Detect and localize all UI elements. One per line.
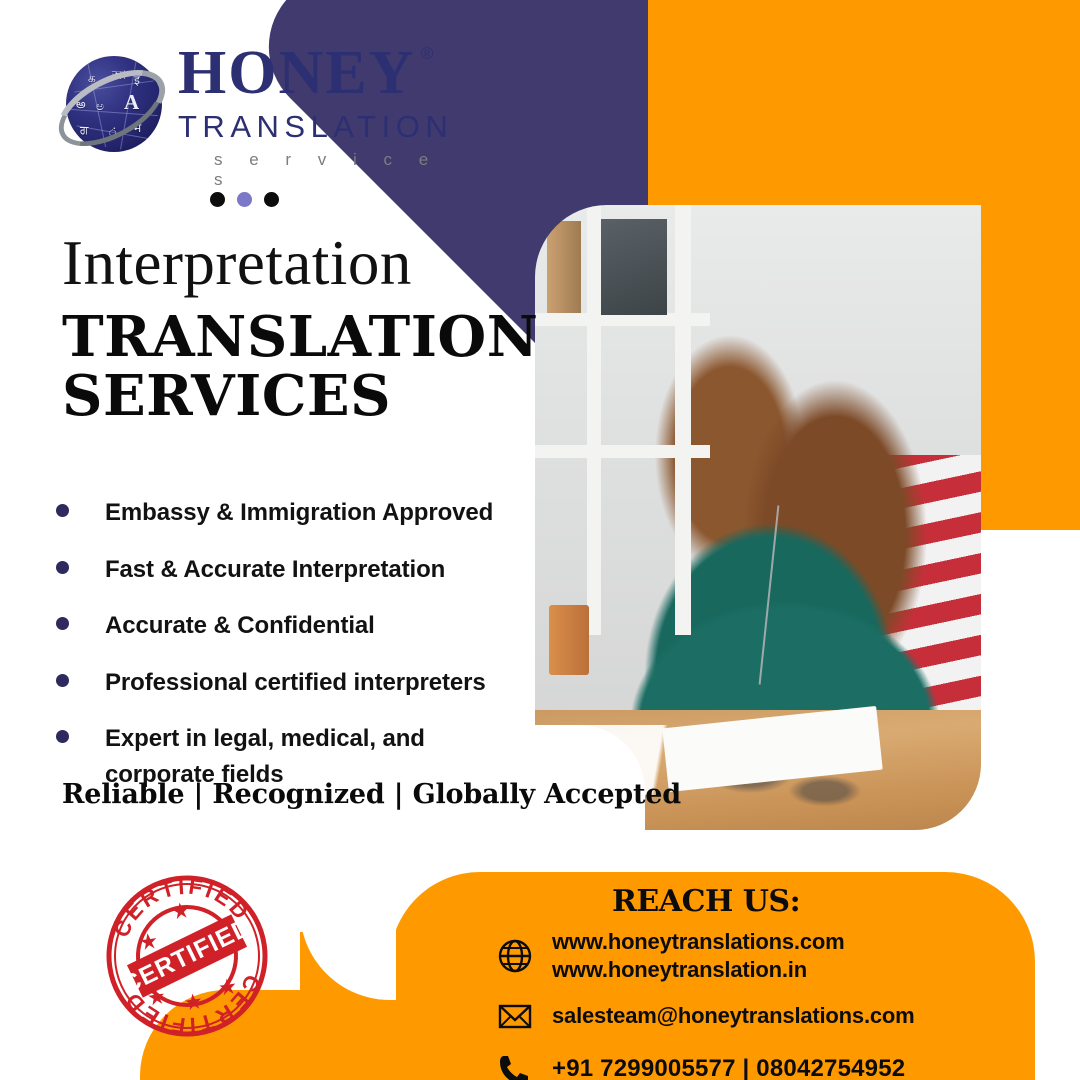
bullet-dot-icon: [56, 504, 69, 517]
contact-heading: REACH US:: [612, 884, 800, 919]
list-item-label: Embassy & Immigration Approved: [105, 495, 493, 531]
page-title: Interpretation TRANSLATION SERVICES: [62, 232, 538, 429]
globe-icon: க আ इ అ ಅ A ਗ ் म: [52, 48, 170, 168]
bullet-dot-icon: [56, 674, 69, 687]
globe-icon: [494, 936, 536, 976]
logo-wordmark: HONEY ®: [178, 44, 415, 103]
contact-row-website[interactable]: www.honeytranslations.com www.honeytrans…: [494, 928, 915, 983]
headline-script: Interpretation: [62, 232, 538, 295]
decorative-dots: [210, 192, 279, 207]
headline-bold-line1: TRANSLATION: [62, 305, 538, 370]
phone-icon: [494, 1049, 536, 1080]
list-item-label: Accurate & Confidential: [105, 608, 375, 644]
dot-1: [210, 192, 225, 207]
registered-mark: ®: [421, 46, 436, 62]
website-line-1[interactable]: www.honeytranslations.com: [552, 929, 844, 954]
contact-details: www.honeytranslations.com www.honeytrans…: [494, 928, 915, 1080]
tagline: Reliable | Recognized | Globally Accepte…: [62, 779, 681, 810]
website-line-2[interactable]: www.honeytranslation.in: [552, 957, 807, 982]
contact-row-phone[interactable]: +91 7299005577 | 08042754952: [494, 1049, 915, 1080]
phone-numbers[interactable]: +91 7299005577 | 08042754952: [552, 1054, 905, 1080]
list-item: Accurate & Confidential: [56, 608, 536, 644]
list-item: Professional certified interpreters: [56, 665, 536, 701]
dot-3: [264, 192, 279, 207]
logo-name-text: HONEY: [178, 39, 415, 107]
email-address[interactable]: salesteam@honeytranslations.com: [552, 1002, 915, 1030]
list-item-label: Fast & Accurate Interpretation: [105, 552, 445, 588]
bullet-dot-icon: [56, 561, 69, 574]
envelope-icon: [494, 996, 536, 1036]
feature-list: Embassy & Immigration Approved Fast & Ac…: [56, 495, 536, 813]
logo-subline-translation: TRANSLATION: [178, 109, 453, 145]
bullet-dot-icon: [56, 730, 69, 743]
list-item-label: Professional certified interpreters: [105, 665, 486, 701]
hero-photo: [535, 205, 981, 830]
certified-stamp: CERTIFIED CERTIFIED CERTIFIED: [92, 861, 282, 1051]
list-item: Embassy & Immigration Approved: [56, 495, 536, 531]
headline-bold-line2: SERVICES: [62, 364, 538, 429]
hero-photo-image: [535, 205, 981, 830]
logo-subline-services: s e r v i c e s: [178, 150, 453, 190]
website-links[interactable]: www.honeytranslations.com www.honeytrans…: [552, 928, 844, 983]
contact-row-email[interactable]: salesteam@honeytranslations.com: [494, 996, 915, 1036]
poster-canvas: க আ इ అ ಅ A ਗ ் म HONEY ® TRANSLATION s …: [0, 0, 1080, 1080]
dot-2: [237, 192, 252, 207]
list-item: Fast & Accurate Interpretation: [56, 552, 536, 588]
bullet-dot-icon: [56, 617, 69, 630]
